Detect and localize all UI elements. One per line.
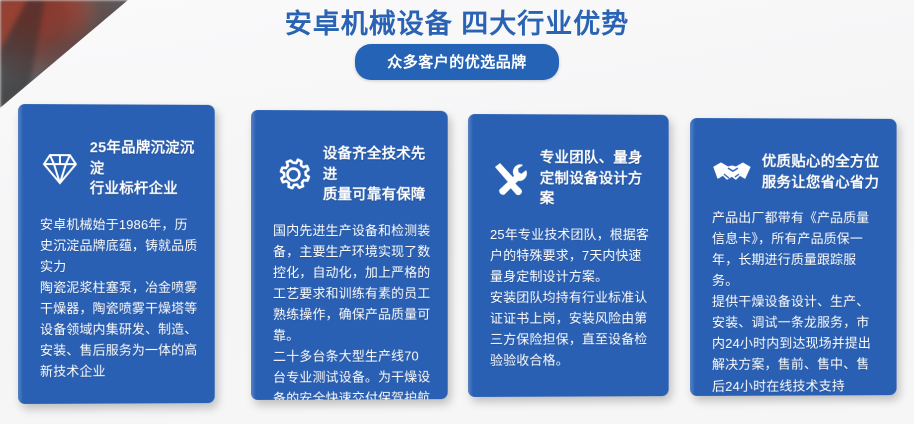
card-title-line-2: 定制设备设计方案	[540, 169, 653, 210]
card-title: 优质贴心的全方位 服务让您省心省力	[762, 152, 879, 193]
card-title: 设备齐全技术先进 质量可靠有保障	[323, 144, 432, 206]
advantage-card-list: 25年品牌沉淀沉淀 行业标杆企业 安卓机械始于1986年，历史沉淀品牌底蕴，铸就…	[0, 0, 914, 424]
card-paragraph: 国内先进生产设备和检测装备，主要生产环境实现了数控化，自动化，加上严格的工艺要求…	[273, 220, 432, 346]
gear-icon	[273, 155, 313, 195]
card-body: 国内先进生产设备和检测装备，主要生产环境实现了数控化，自动化，加上严格的工艺要求…	[273, 220, 432, 400]
card-paragraph: 产品出厂都带有《产品质量信息卡》，所有产品质保一年，长期进行质量跟踪服务。	[712, 207, 881, 291]
card-title-line-1: 25年品牌沉淀沉淀	[90, 138, 199, 179]
card-body: 安卓机械始于1986年，历史沉淀品牌底蕴，铸就品质实力 陶瓷泥浆柱塞泵，冶金喷雾…	[40, 214, 199, 382]
card-paragraph: 25年专业技术团队，根据客户的特殊要求，7天内快速量身定制设计方案。	[490, 224, 653, 287]
card-title: 25年品牌沉淀沉淀 行业标杆企业	[90, 138, 199, 200]
card-body: 25年专业技术团队，根据客户的特殊要求，7天内快速量身定制设计方案。 安装团队均…	[490, 224, 653, 371]
card-paragraph: 二十多台条大型生产线70台专业测试设备。为干燥设备的安全快速交付保驾护航	[273, 346, 432, 400]
card-header: 设备齐全技术先进 质量可靠有保障	[273, 144, 432, 206]
diamond-icon	[40, 149, 80, 189]
card-title-line-2: 行业标杆企业	[90, 179, 199, 200]
card-header: 专业团队、量身 定制设备设计方案	[490, 148, 653, 210]
card-body: 产品出厂都带有《产品质量信息卡》，所有产品质保一年，长期进行质量跟踪服务。 提供…	[712, 207, 881, 396]
advantage-card-4[interactable]: 优质贴心的全方位 服务让您省心省力 产品出厂都带有《产品质量信息卡》，所有产品质…	[690, 118, 897, 396]
card-title-line-2: 服务让您省心省力	[762, 173, 879, 194]
advantage-card-3[interactable]: 专业团队、量身 定制设备设计方案 25年专业技术团队，根据客户的特殊要求，7天内…	[468, 114, 669, 397]
card-paragraph: 提供干燥设备设计、生产、安装、调试一条龙服务，市内24小时内到达现场并提出解决方…	[712, 291, 881, 396]
handshake-icon	[712, 153, 752, 193]
card-paragraph: 安装团队均持有行业标准认证证书上岗，安装风险由第三方保险担保，直至设备检验验收合…	[490, 287, 653, 371]
card-title-line-2: 质量可靠有保障	[323, 185, 432, 206]
card-paragraph: 陶瓷泥浆柱塞泵，冶金喷雾干燥器，陶瓷喷雾干燥塔等设备领域内集研发、制造、安装、售…	[40, 277, 199, 382]
card-title-line-1: 优质贴心的全方位	[762, 152, 879, 173]
card-paragraph: 安卓机械始于1986年，历史沉淀品牌底蕴，铸就品质实力	[40, 214, 199, 277]
card-title-line-1: 专业团队、量身	[540, 148, 653, 169]
tools-icon	[490, 159, 530, 199]
advantage-card-1[interactable]: 25年品牌沉淀沉淀 行业标杆企业 安卓机械始于1986年，历史沉淀品牌底蕴，铸就…	[18, 104, 215, 404]
card-header: 优质贴心的全方位 服务让您省心省力	[712, 152, 881, 193]
promo-banner: 安卓机械设备 四大行业优势 众多客户的优选品牌 25年品牌沉淀沉淀	[0, 0, 914, 424]
card-header: 25年品牌沉淀沉淀 行业标杆企业	[40, 138, 199, 200]
advantage-card-2[interactable]: 设备齐全技术先进 质量可靠有保障 国内先进生产设备和检测装备，主要生产环境实现了…	[251, 110, 448, 400]
card-title: 专业团队、量身 定制设备设计方案	[540, 148, 653, 210]
card-title-line-1: 设备齐全技术先进	[323, 144, 432, 185]
